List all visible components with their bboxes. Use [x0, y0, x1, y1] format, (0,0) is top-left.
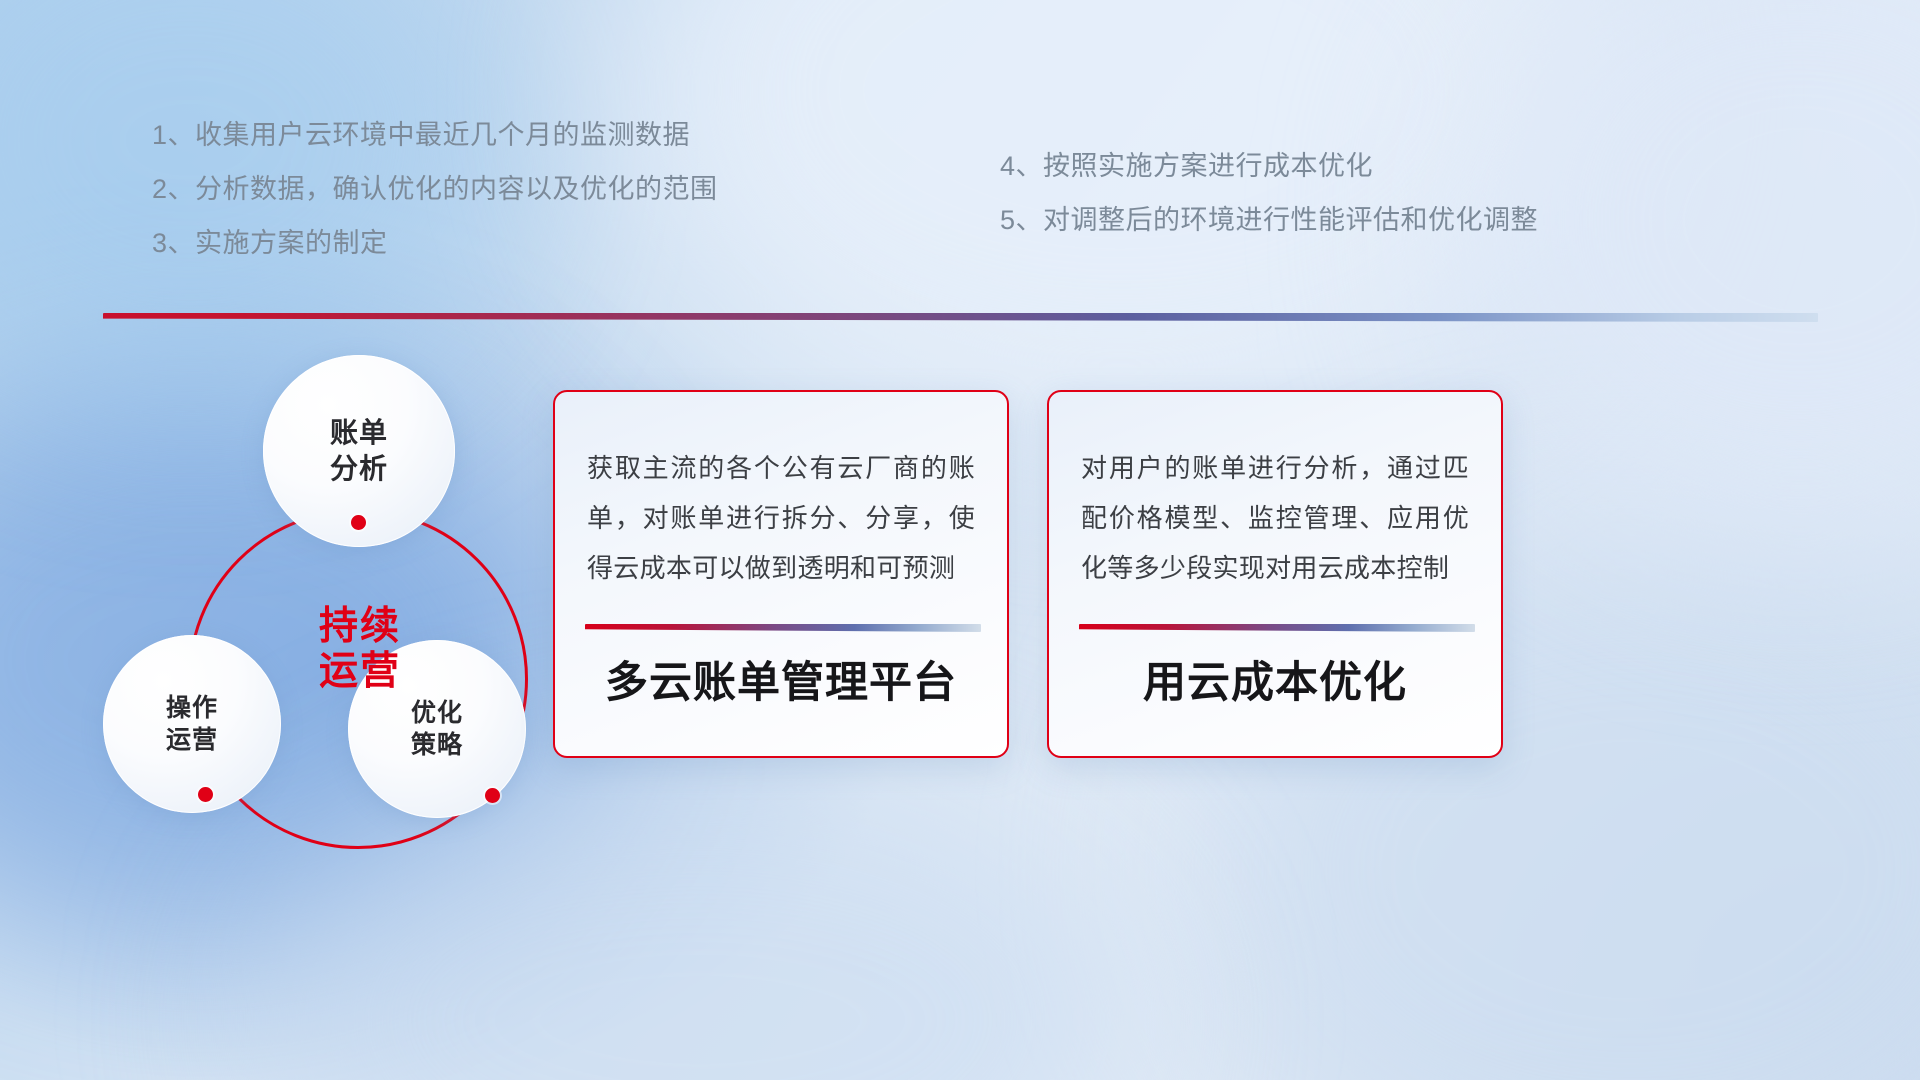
- venn-node-label-line1: 操作: [166, 692, 218, 724]
- venn-connector-dot-top: [351, 515, 366, 530]
- venn-node-label-line2: 分析: [330, 451, 388, 487]
- venn-node-operations[interactable]: 操作 运营: [103, 635, 281, 813]
- bullet-item-5: 5、对调整后的环境进行性能评估和优化调整: [1000, 207, 1538, 234]
- info-card-cloud-cost-optimization[interactable]: 对用户的账单进行分析，通过匹配价格模型、监控管理、应用优化等多少段实现对用云成本…: [1047, 390, 1503, 758]
- bullet-item-1: 1、收集用户云环境中最近几个月的监测数据: [152, 122, 718, 149]
- venn-connector-dot-left: [198, 787, 213, 802]
- bullet-item-2: 2、分析数据，确认优化的内容以及优化的范围: [152, 176, 718, 203]
- venn-center-label-line2: 运营: [270, 650, 450, 695]
- card-title: 用云成本优化: [1049, 648, 1501, 710]
- slide-canvas: 1、收集用户云环境中最近几个月的监测数据 2、分析数据，确认优化的内容以及优化的…: [0, 0, 1920, 1080]
- venn-node-label-line2: 策略: [411, 729, 463, 761]
- bullet-list-right: 4、按照实施方案进行成本优化 5、对调整后的环境进行性能评估和优化调整: [1000, 153, 1538, 261]
- info-card-multi-cloud-billing-platform[interactable]: 获取主流的各个公有云厂商的账单，对账单进行拆分、分享，使得云成本可以做到透明和可…: [553, 390, 1009, 758]
- venn-center-label: 持续 运营: [270, 605, 450, 695]
- card-body-text: 获取主流的各个公有云厂商的账单，对账单进行拆分、分享，使得云成本可以做到透明和可…: [587, 444, 975, 602]
- venn-node-label-line2: 运营: [166, 724, 218, 756]
- background-blob: [1450, 0, 1920, 540]
- bullet-list-left: 1、收集用户云环境中最近几个月的监测数据 2、分析数据，确认优化的内容以及优化的…: [152, 122, 718, 284]
- card-divider: [585, 624, 981, 632]
- card-divider: [1079, 624, 1475, 632]
- venn-node-label-line1: 优化: [411, 697, 463, 729]
- section-divider: [103, 313, 1818, 322]
- card-title: 多云账单管理平台: [555, 648, 1007, 710]
- venn-center-label-line1: 持续: [270, 605, 450, 650]
- venn-node-label-line1: 账单: [330, 415, 388, 451]
- card-body-text: 对用户的账单进行分析，通过匹配价格模型、监控管理、应用优化等多少段实现对用云成本…: [1081, 444, 1469, 602]
- venn-connector-dot-right: [485, 788, 500, 803]
- bullet-item-4: 4、按照实施方案进行成本优化: [1000, 153, 1538, 180]
- bullet-item-3: 3、实施方案的制定: [152, 230, 718, 257]
